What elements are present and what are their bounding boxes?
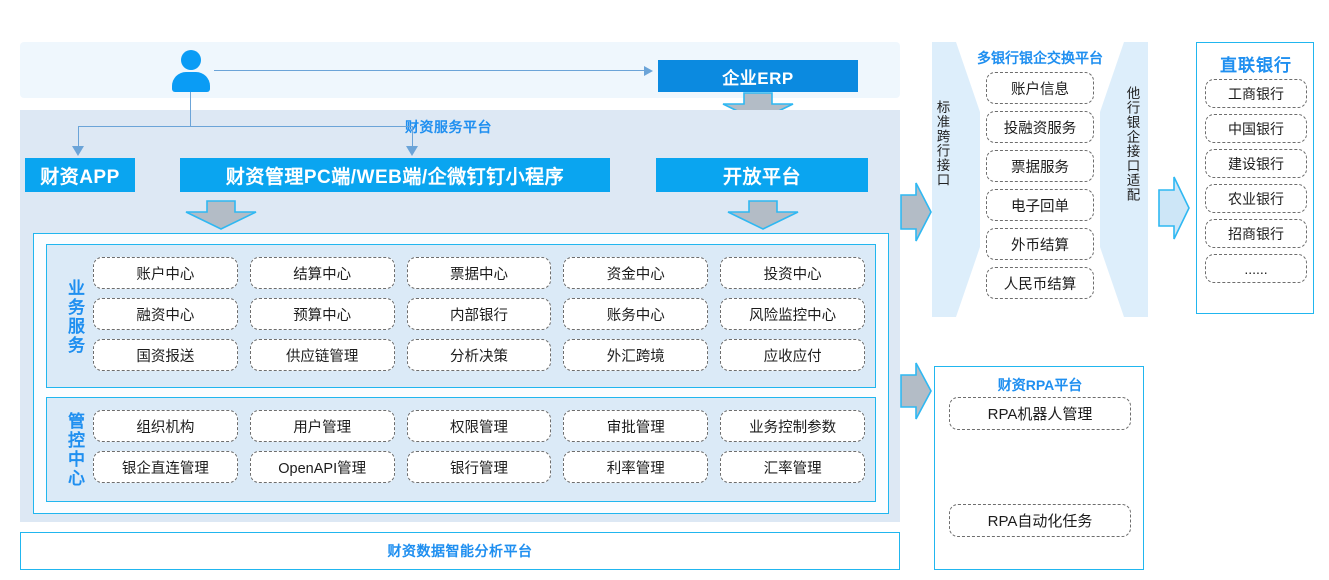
bank-exchange-panel: 多银行银企交换平台 账户信息投融资服务票据服务电子回单外币结算人民币结算	[932, 42, 1148, 317]
direct-bank-chip[interactable]: 建设银行	[1205, 149, 1307, 178]
arrowhead-to-app-icon	[72, 146, 84, 156]
control-center-chip[interactable]: 权限管理	[407, 410, 552, 442]
control-center-side-label: 管控中心	[57, 408, 83, 492]
standard-interface-label: 标准跨行接口	[934, 100, 950, 187]
business-services-grid: 账户中心结算中心票据中心资金中心投资中心融资中心预算中心内部银行账务中心风险监控…	[93, 257, 865, 371]
channel-chip-app[interactable]: 财资APP	[25, 158, 135, 192]
direct-bank-panel: 直联银行 工商银行中国银行建设银行农业银行招商银行......	[1196, 42, 1314, 314]
connector-user-to-erp	[214, 70, 644, 71]
arrow-down-channels-icon	[185, 200, 257, 230]
arrow-right-to-direct-bank-icon	[1158, 176, 1190, 240]
connector-user-trunk	[190, 92, 191, 126]
direct-bank-chip[interactable]: ......	[1205, 254, 1307, 283]
arrowhead-user-to-erp-icon	[644, 66, 653, 76]
control-center-chip[interactable]: 银行管理	[407, 451, 552, 483]
arrow-right-to-bank-exchange-icon	[900, 182, 932, 242]
bank-exchange-chip[interactable]: 票据服务	[986, 150, 1094, 182]
other-bank-adapter-label: 他行银企接口适配	[1124, 86, 1140, 202]
business-service-chip[interactable]: 国资报送	[93, 339, 238, 371]
control-center-chip[interactable]: 业务控制参数	[720, 410, 865, 442]
arrow-down-open-platform-icon	[727, 200, 799, 230]
business-services-section: 业务服务 账户中心结算中心票据中心资金中心投资中心融资中心预算中心内部银行账务中…	[46, 244, 876, 388]
direct-bank-chip[interactable]: 工商银行	[1205, 79, 1307, 108]
bank-exchange-title: 多银行银企交换平台	[932, 48, 1148, 68]
business-service-chip[interactable]: 外汇跨境	[563, 339, 708, 371]
capabilities-container: 业务服务 账户中心结算中心票据中心资金中心投资中心融资中心预算中心内部银行账务中…	[33, 233, 889, 514]
direct-bank-chip[interactable]: 农业银行	[1205, 184, 1307, 213]
rpa-platform-panel: 财资RPA平台 RPA机器人管理RPA自动化任务	[934, 366, 1144, 570]
business-service-chip[interactable]: 内部银行	[407, 298, 552, 330]
erp-chip[interactable]: 企业ERP	[658, 60, 858, 92]
bank-exchange-items: 账户信息投融资服务票据服务电子回单外币结算人民币结算	[986, 72, 1094, 299]
business-service-chip[interactable]: 预算中心	[250, 298, 395, 330]
channel-chip-pc[interactable]: 财资管理PC端/WEB端/企微钉钉小程序	[180, 158, 610, 192]
control-center-chip[interactable]: 汇率管理	[720, 451, 865, 483]
business-service-chip[interactable]: 资金中心	[563, 257, 708, 289]
connector-branch-left	[78, 126, 79, 148]
connector-branch-right	[412, 126, 413, 148]
business-service-chip[interactable]: 供应链管理	[250, 339, 395, 371]
control-center-chip[interactable]: 银企直连管理	[93, 451, 238, 483]
business-service-chip[interactable]: 账户中心	[93, 257, 238, 289]
rpa-spacer	[949, 430, 1131, 504]
business-service-chip[interactable]: 结算中心	[250, 257, 395, 289]
bank-exchange-chip[interactable]: 外币结算	[986, 228, 1094, 260]
business-service-chip[interactable]: 账务中心	[563, 298, 708, 330]
bank-exchange-chip[interactable]: 投融资服务	[986, 111, 1094, 143]
person-body	[172, 72, 210, 92]
rpa-chip[interactable]: RPA机器人管理	[949, 397, 1131, 430]
business-service-chip[interactable]: 票据中心	[407, 257, 552, 289]
control-center-chip[interactable]: 组织机构	[93, 410, 238, 442]
direct-bank-title: 直联银行	[1197, 51, 1315, 76]
person-head	[181, 50, 201, 70]
analysis-platform-bar: 财资数据智能分析平台	[20, 532, 900, 570]
arrow-right-to-rpa-icon	[900, 362, 932, 420]
business-service-chip[interactable]: 投资中心	[720, 257, 865, 289]
direct-bank-chip[interactable]: 中国银行	[1205, 114, 1307, 143]
business-service-chip[interactable]: 融资中心	[93, 298, 238, 330]
channel-chip-open[interactable]: 开放平台	[656, 158, 868, 192]
direct-bank-items: 工商银行中国银行建设银行农业银行招商银行......	[1205, 79, 1307, 283]
control-center-chip[interactable]: OpenAPI管理	[250, 451, 395, 483]
bank-exchange-chip[interactable]: 账户信息	[986, 72, 1094, 104]
person-icon	[170, 50, 212, 92]
business-service-chip[interactable]: 风险监控中心	[720, 298, 865, 330]
business-services-side-label: 业务服务	[57, 259, 83, 375]
direct-bank-chip[interactable]: 招商银行	[1205, 219, 1307, 248]
control-center-chip[interactable]: 审批管理	[563, 410, 708, 442]
rpa-platform-title: 财资RPA平台	[935, 375, 1145, 395]
business-service-chip[interactable]: 分析决策	[407, 339, 552, 371]
arrowhead-to-pc-icon	[406, 146, 418, 156]
bank-exchange-chip[interactable]: 人民币结算	[986, 267, 1094, 299]
bank-exchange-chip[interactable]: 电子回单	[986, 189, 1094, 221]
connector-branch-bar	[78, 126, 413, 127]
control-center-chip[interactable]: 用户管理	[250, 410, 395, 442]
business-service-chip[interactable]: 应收应付	[720, 339, 865, 371]
control-center-chip[interactable]: 利率管理	[563, 451, 708, 483]
architecture-diagram: 企业ERP 财资服务平台 财资APP 财资管理PC端/WEB端/企微钉钉小程序 …	[0, 0, 1329, 580]
service-platform-title: 财资服务平台	[405, 117, 492, 137]
control-center-grid: 组织机构用户管理权限管理审批管理业务控制参数银企直连管理OpenAPI管理银行管…	[93, 410, 865, 483]
rpa-platform-items: RPA机器人管理RPA自动化任务	[949, 397, 1131, 537]
rpa-chip[interactable]: RPA自动化任务	[949, 504, 1131, 537]
control-center-section: 管控中心 组织机构用户管理权限管理审批管理业务控制参数银企直连管理OpenAPI…	[46, 397, 876, 502]
